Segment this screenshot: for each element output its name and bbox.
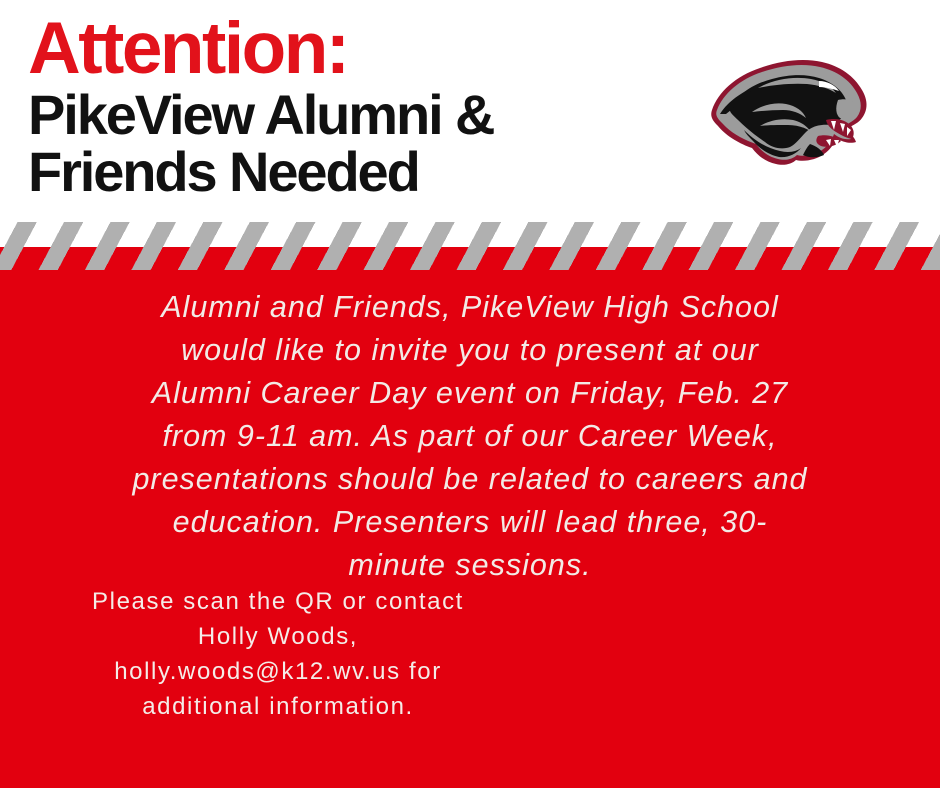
- contact-line-2: Holly Woods,: [198, 623, 358, 650]
- body-line-4: from 9-11 am. As part of our Career Week…: [162, 419, 777, 453]
- poster-canvas: Attention: PikeView Alumni & Friends Nee…: [0, 0, 940, 788]
- poster-header: Attention: PikeView Alumni & Friends Nee…: [0, 0, 940, 222]
- headline-attention: Attention:: [28, 14, 668, 84]
- poster-body: Alumni and Friends, PikeView High School…: [0, 270, 940, 788]
- body-line-3: Alumni Career Day event on Friday, Feb. …: [152, 376, 788, 410]
- contact-paragraph: Please scan the QR or contact Holly Wood…: [18, 584, 538, 724]
- body-line-7: minute sessions.: [348, 548, 591, 582]
- stripe-gray-diagonals: [0, 222, 940, 270]
- body-line-6: education. Presenters will lead three, 3…: [173, 505, 768, 539]
- body-line-2: would like to invite you to present at o…: [181, 333, 759, 367]
- headline-line-3: Friends Needed: [28, 143, 668, 200]
- contact-line-1: Please scan the QR or contact: [92, 588, 464, 615]
- body-line-5: presentations should be related to caree…: [132, 462, 807, 496]
- contact-line-4: additional information.: [142, 693, 414, 720]
- headline-block: Attention: PikeView Alumni & Friends Nee…: [28, 14, 668, 200]
- headline-line-2: PikeView Alumni &: [28, 86, 668, 143]
- panther-mascot-icon: [700, 48, 880, 172]
- body-paragraph: Alumni and Friends, PikeView High School…: [58, 286, 882, 587]
- contact-email[interactable]: holly.woods@k12.wv.us for: [114, 658, 442, 685]
- diagonal-stripe-divider: [0, 222, 940, 270]
- body-line-1: Alumni and Friends, PikeView High School: [161, 290, 779, 324]
